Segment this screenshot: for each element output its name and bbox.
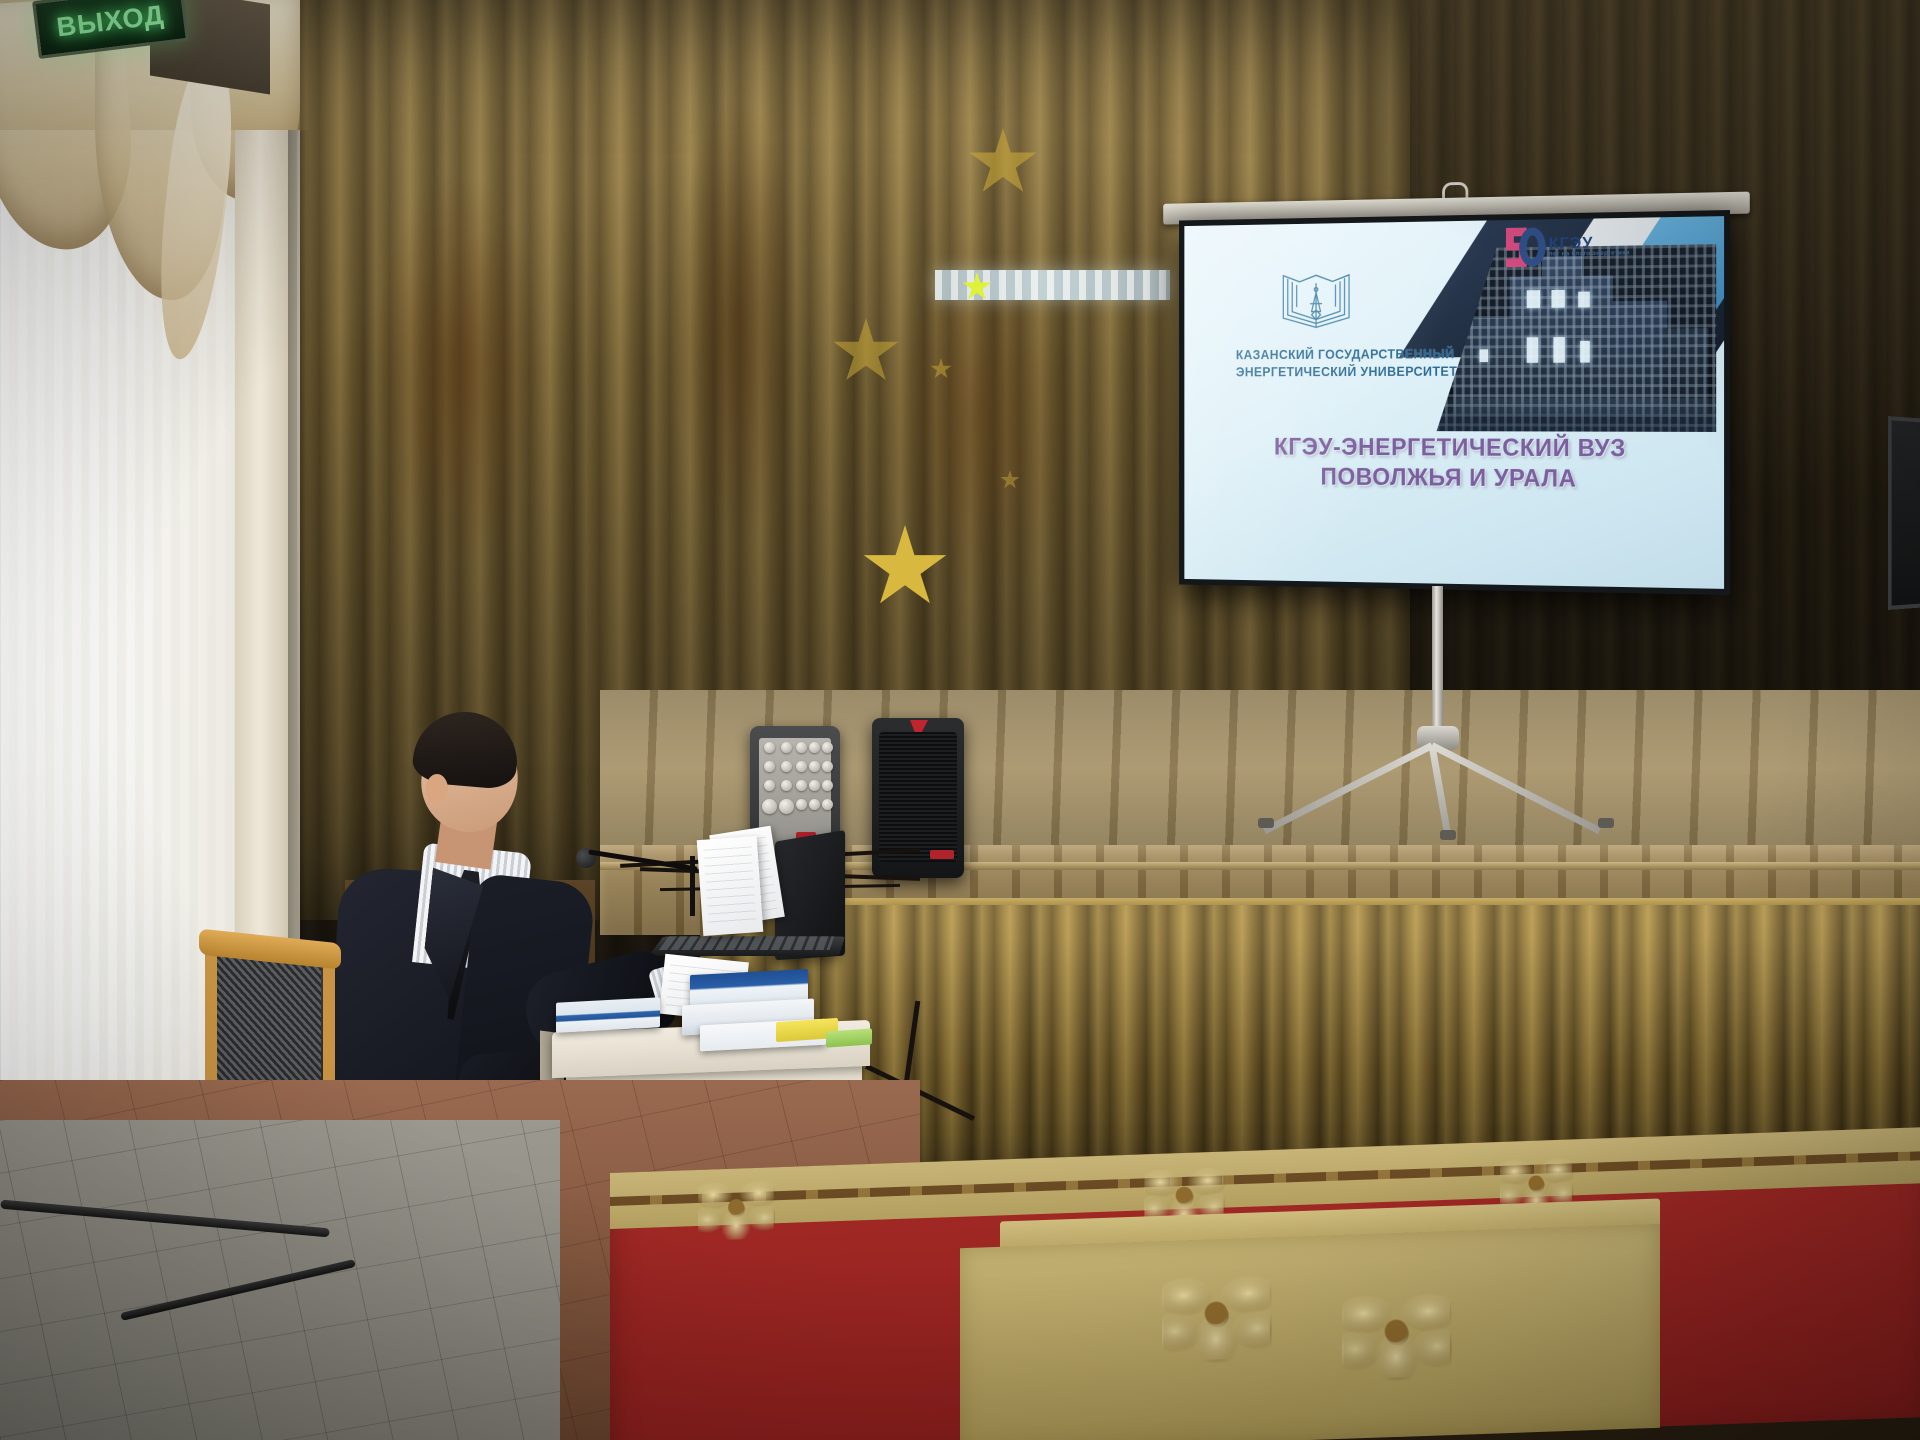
anniversary-badge-icon xyxy=(1506,225,1544,269)
mixer-knob[interactable] xyxy=(809,742,820,753)
carpet-inner-panel xyxy=(960,1224,1660,1440)
mixer-knob[interactable] xyxy=(809,780,820,791)
speaker-grill xyxy=(879,732,957,862)
anniversary-logo-text: КГЭУ лет на благо энергетики xyxy=(1549,234,1630,258)
mixer-knob[interactable] xyxy=(764,761,775,772)
mixer-knob[interactable] xyxy=(822,761,833,772)
lit-window xyxy=(1553,337,1564,363)
mixer-knob[interactable] xyxy=(809,761,820,772)
pa-speaker xyxy=(872,718,964,878)
carpet-flower xyxy=(1342,1283,1450,1380)
photo-scene: ВЫХОД xyxy=(0,0,1920,1440)
projection-screen: КГЭУ лет на благо энергетики xyxy=(1179,210,1730,595)
lit-window xyxy=(1551,290,1564,308)
mixer-knob[interactable] xyxy=(796,799,807,810)
mixer-knob[interactable] xyxy=(781,742,792,753)
tripod-foot xyxy=(1598,818,1614,828)
mixer-knob[interactable] xyxy=(779,799,794,814)
mixer-knob[interactable] xyxy=(822,780,833,791)
mixer-knob[interactable] xyxy=(796,742,807,753)
digit-zero-icon xyxy=(1519,227,1546,267)
tripod-foot xyxy=(1440,830,1456,840)
exit-sign-label: ВЫХОД xyxy=(55,0,166,43)
anniversary-tagline: лет на благо энергетики xyxy=(1549,251,1630,259)
slide-title: КГЭУ-ЭНЕРГЕТИЧЕСКИЙ ВУЗ ПОВОЛЖЬЯ И УРАЛА xyxy=(1184,432,1724,495)
university-name: КАЗАНСКИЙ ГОСУДАРСТВЕННЫЙ ЭНЕРГЕТИЧЕСКИЙ… xyxy=(1236,346,1457,382)
speaker-label xyxy=(930,850,954,859)
mixer-knob[interactable] xyxy=(809,799,820,810)
lit-window xyxy=(1578,292,1590,308)
lit-window xyxy=(1527,337,1538,363)
carpet-flower xyxy=(1162,1265,1270,1362)
carpet-flower xyxy=(698,1173,774,1241)
photo-ground-glow xyxy=(1437,398,1717,432)
mixer-knob[interactable] xyxy=(781,780,792,791)
mixer-knob[interactable] xyxy=(764,780,775,791)
tripod-pole xyxy=(1432,586,1443,741)
green-note xyxy=(826,1028,872,1047)
tripod-foot xyxy=(1258,818,1274,828)
ear xyxy=(426,774,448,804)
mixer-knob[interactable] xyxy=(822,799,833,810)
lit-window xyxy=(1580,341,1590,363)
anniversary-logo: КГЭУ лет на благо энергетики xyxy=(1506,222,1630,271)
screen-frame: КГЭУ лет на благо энергетики xyxy=(1179,210,1730,595)
blue-brochure xyxy=(556,997,660,1032)
mixer-knob[interactable] xyxy=(781,761,792,772)
university-emblem-icon xyxy=(1278,265,1354,337)
lit-window xyxy=(1480,349,1488,362)
mixer-knob[interactable] xyxy=(764,742,775,753)
slide-canvas: КГЭУ лет на благо энергетики xyxy=(1184,216,1724,589)
mixer-knob[interactable] xyxy=(796,780,807,791)
wall-monitor xyxy=(1888,416,1920,610)
hair xyxy=(411,708,521,791)
mixer-knob[interactable] xyxy=(762,799,777,814)
mixer-knob[interactable] xyxy=(796,761,807,772)
held-paper xyxy=(697,836,764,936)
mixer-knob[interactable] xyxy=(822,742,833,753)
lit-window xyxy=(1527,290,1540,308)
paper-text-lines xyxy=(703,846,756,927)
